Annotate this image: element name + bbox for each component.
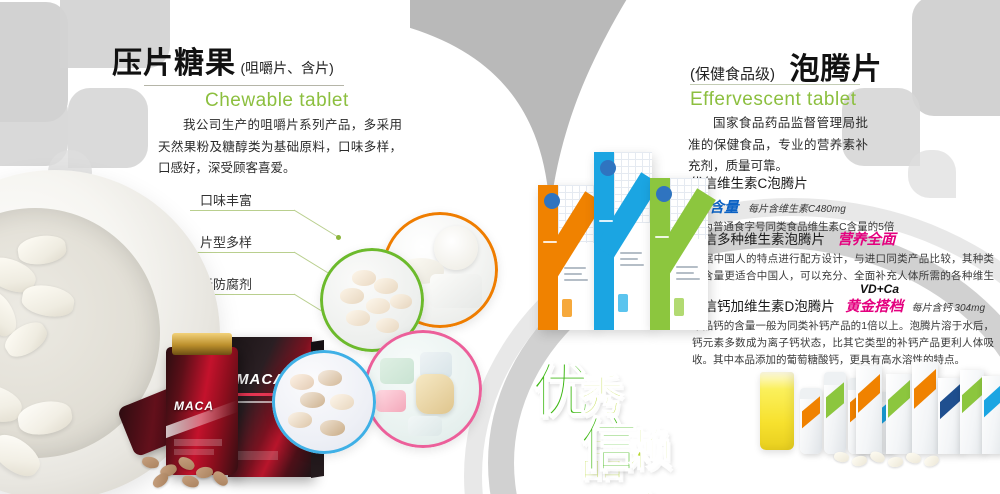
bubble-blue bbox=[272, 350, 376, 454]
feature-desc: 本品钙的含量一般为同类补钙产品的1倍以上。泡腾片溶于水后，钙元素多数成为离子钙状… bbox=[692, 318, 994, 369]
right-body-text: 国家食品药品监督管理局批准的保健食品，专业的营养素补充剂，质量可靠。 bbox=[688, 113, 868, 178]
bubble-ring-blue bbox=[272, 350, 376, 454]
feature-item-vitamin-c: 优信维生素C泡腾片 高含量 每片含维生素C480mg 约为普通食字号同类食品维生… bbox=[678, 172, 994, 236]
feature-title: 优信钙加维生素D泡腾片 bbox=[690, 299, 835, 314]
product-box bbox=[960, 370, 984, 454]
eff-box-blue bbox=[594, 152, 652, 330]
callout-dot-1 bbox=[336, 235, 341, 240]
maca-bottle: MACA bbox=[166, 347, 238, 475]
eff-box-orange bbox=[538, 185, 596, 330]
poster-canvas: 压片糖果 (咀嚼片、含片) Chewable tablet 我公司生产的咀嚼片系… bbox=[0, 0, 1000, 494]
bubble-pink bbox=[364, 330, 482, 448]
product-tube bbox=[824, 372, 846, 454]
slogan-line2-small: 赖之选 bbox=[628, 414, 672, 494]
leaf-shape-6 bbox=[912, 0, 1000, 116]
page-title-cn: 压片糖果 bbox=[112, 47, 236, 80]
right-title-en: Effervescent tablet bbox=[690, 89, 857, 111]
left-title-divider bbox=[144, 85, 344, 86]
maca-cap bbox=[172, 333, 232, 355]
feature-tag: 营养全面 bbox=[837, 232, 895, 248]
product-box bbox=[886, 374, 912, 454]
feature-superscript: VD+Ca bbox=[860, 282, 994, 296]
product-box bbox=[938, 378, 962, 454]
bubble-ring-pink bbox=[364, 330, 482, 448]
feature-tag: 黄金搭档 bbox=[845, 299, 903, 315]
eff-box-green bbox=[650, 178, 708, 330]
right-title-note: (保健食品级) bbox=[690, 66, 775, 83]
product-tube bbox=[800, 388, 822, 454]
product-box bbox=[982, 376, 1000, 454]
product-box bbox=[912, 362, 938, 454]
feature-tag-note: 每片含维生素C480mg bbox=[748, 204, 846, 215]
feature-item-calcium: VD+Ca 优信钙加维生素D泡腾片 黄金搭档 每片含钙 304mg 本品钙的含量… bbox=[678, 282, 994, 369]
tablet bbox=[195, 466, 213, 479]
right-title-block: (保健食品级) 泡腾片 bbox=[690, 44, 882, 88]
feature-tag-note: 每片含钙 304mg bbox=[912, 303, 985, 314]
left-title-block: 压片糖果 (咀嚼片、含片) bbox=[112, 38, 334, 82]
product-box bbox=[856, 366, 882, 454]
page-title-note: (咀嚼片、含片) bbox=[240, 60, 333, 76]
feature-title: 优信多种维生素泡腾片 bbox=[690, 232, 825, 247]
right-title-divider bbox=[690, 84, 860, 85]
tablet bbox=[141, 455, 160, 470]
glass-of-drink bbox=[760, 372, 794, 450]
right-title-cn: 泡腾片 bbox=[789, 53, 882, 86]
page-title-en: Chewable tablet bbox=[205, 90, 349, 112]
maca-bottle-brand: MACA bbox=[174, 399, 230, 413]
